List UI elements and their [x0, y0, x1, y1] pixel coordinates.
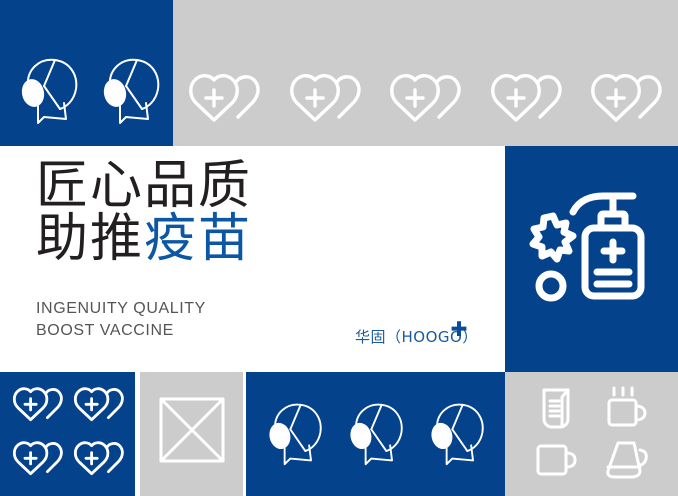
sanitizer-icon-group — [517, 190, 667, 330]
top-left-mask-group — [14, 52, 166, 132]
masked-head-icon — [14, 53, 84, 131]
steaming-mug-icon — [602, 385, 650, 436]
plus-cross-icon — [450, 320, 468, 338]
kettle-icon — [601, 438, 651, 487]
masked-head-icon — [343, 398, 409, 472]
measuring-beaker-icon — [534, 385, 578, 436]
subtitle-line-2: BOOST VACCINE — [36, 320, 206, 342]
headline-line-2: 助推疫苗 — [36, 213, 252, 266]
headline-card: 匠心品质 助推疫苗 INGENUITY QUALITY BOOST VACCIN… — [0, 146, 505, 372]
subtitle-line-1: INGENUITY QUALITY — [36, 298, 206, 320]
double-heart-plus-icon — [11, 438, 67, 485]
sanitizer-bottle-icon — [573, 196, 641, 296]
container-icon-grid — [521, 384, 661, 488]
double-heart-plus-icon — [72, 384, 128, 431]
bottom-hearts-grid — [10, 382, 128, 486]
poster-canvas: 匠心品质 助推疫苗 INGENUITY QUALITY BOOST VACCIN… — [0, 0, 678, 496]
headline-line-1: 匠心品质 — [36, 160, 252, 213]
masked-head-icon — [424, 398, 490, 472]
masked-head-icon — [96, 53, 166, 131]
double-heart-plus-icon — [488, 70, 568, 128]
double-heart-plus-icon — [72, 438, 128, 485]
masked-head-icon — [262, 398, 328, 472]
headline-block: 匠心品质 助推疫苗 — [36, 160, 252, 266]
subtitle-block: INGENUITY QUALITY BOOST VACCINE — [36, 298, 206, 341]
germ-icon — [533, 216, 573, 259]
headline-line-2-blue: 疫苗 — [144, 209, 252, 269]
double-heart-plus-icon — [11, 384, 67, 431]
headline-line-2-dark: 助推 — [36, 209, 144, 269]
double-heart-plus-icon — [186, 70, 266, 128]
bottom-mask-group — [262, 390, 490, 480]
double-heart-plus-icon — [287, 70, 367, 128]
broken-image-placeholder-icon — [158, 396, 226, 464]
double-heart-plus-icon — [387, 70, 467, 128]
dot-icon — [539, 274, 563, 298]
plain-mug-icon — [532, 439, 580, 486]
top-hearts-row — [186, 68, 668, 130]
double-heart-plus-icon — [588, 70, 668, 128]
